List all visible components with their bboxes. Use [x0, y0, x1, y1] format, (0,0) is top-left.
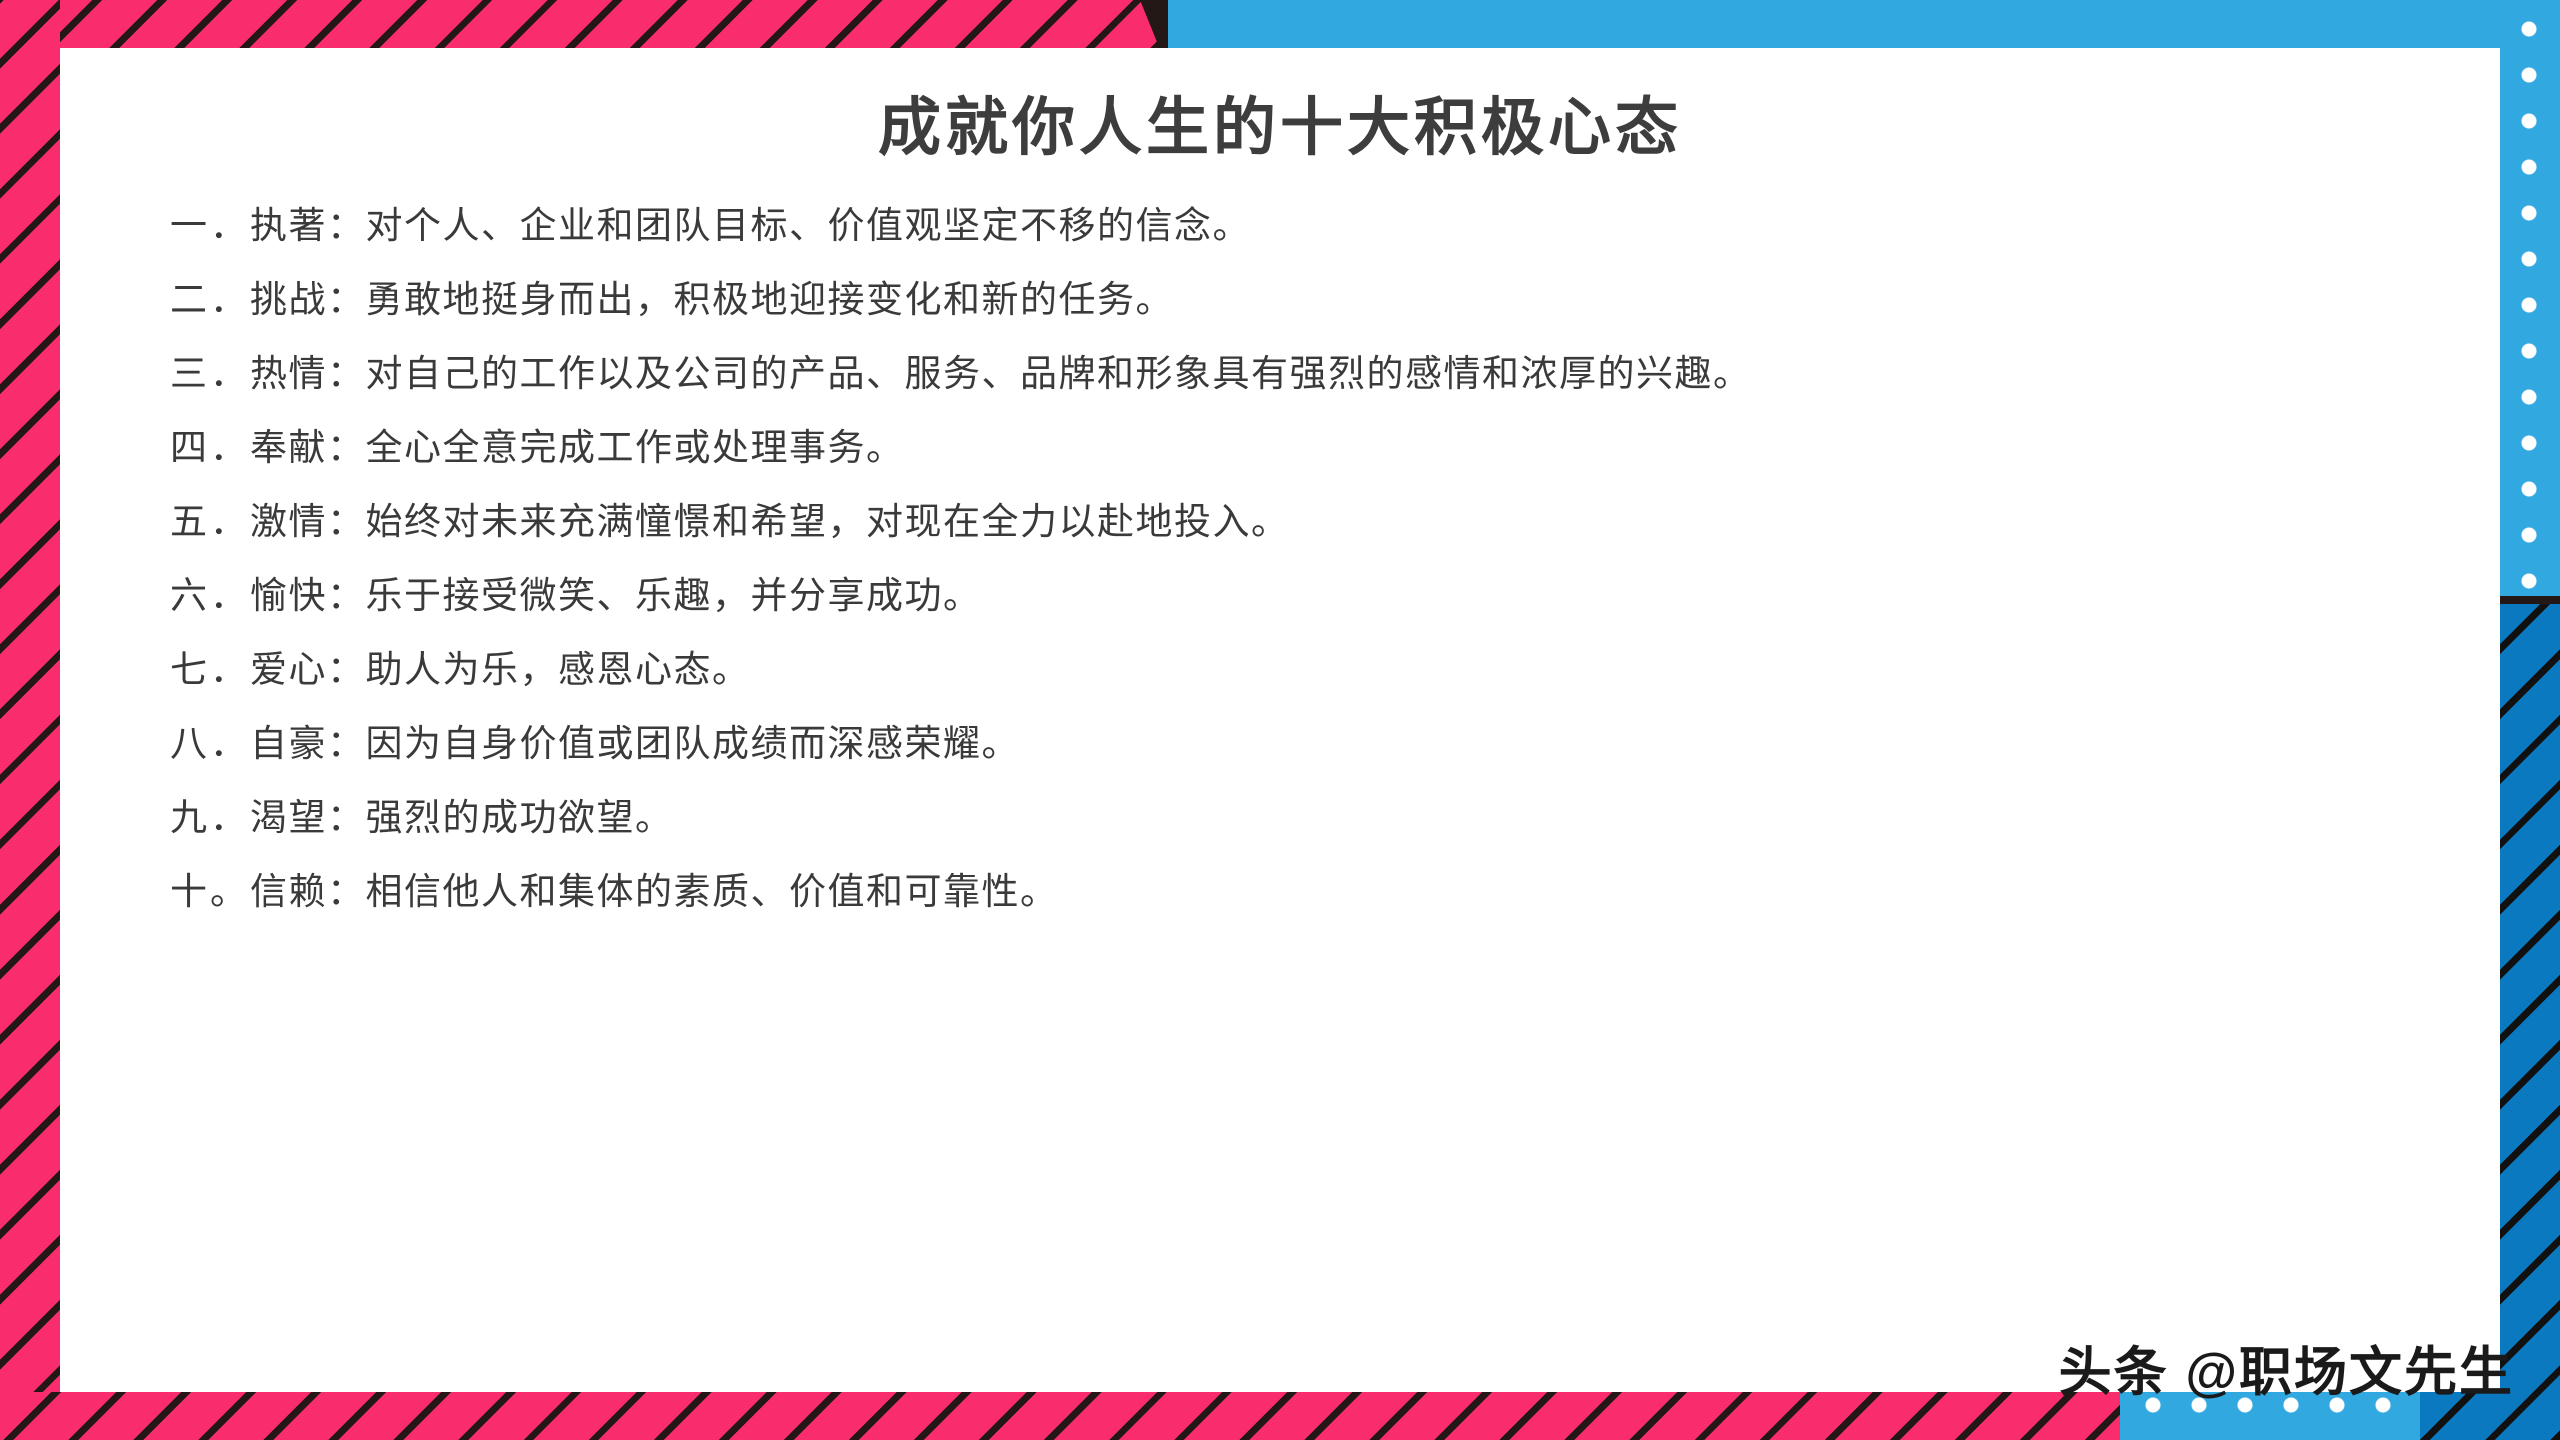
- list-item-text: 自豪：因为自身价值或团队成绩而深感荣耀。: [250, 724, 1020, 765]
- list-item-text: 信赖：相信他人和集体的素质、价值和可靠性。: [250, 872, 1059, 913]
- top-pink-stripe-band: [0, 0, 1160, 48]
- list-item-text: 激情：始终对未来充满憧憬和希望，对现在全力以赴地投入。: [250, 502, 1290, 543]
- list-item: 十。信赖：相信他人和集体的素质、价值和可靠性。: [170, 874, 2460, 911]
- list-item-number: 四．: [170, 428, 250, 469]
- list-item: 五．激情：始终对未来充满憧憬和希望，对现在全力以赴地投入。: [170, 504, 2460, 541]
- list-item-number: 二．: [170, 280, 250, 321]
- positive-mindset-list: 一．执著：对个人、企业和团队目标、价值观坚定不移的信念。 二．挑战：勇敢地挺身而…: [60, 208, 2500, 911]
- watermark-attribution: 头条 @职场文先生: [2059, 1330, 2514, 1406]
- list-item-number: 一．: [170, 206, 250, 247]
- list-item: 四．奉献：全心全意完成工作或处理事务。: [170, 430, 2460, 467]
- right-band-divider: [2500, 596, 2560, 604]
- list-item-number: 九．: [170, 798, 250, 839]
- list-item-text: 奉献：全心全意完成工作或处理事务。: [250, 428, 905, 469]
- list-item-text: 执著：对个人、企业和团队目标、价值观坚定不移的信念。: [250, 206, 1251, 247]
- list-item: 三．热情：对自己的工作以及公司的产品、服务、品牌和形象具有强烈的感情和浓厚的兴趣…: [170, 356, 2460, 393]
- bottom-pink-stripe-band: [0, 1392, 2420, 1440]
- list-item-number: 五．: [170, 502, 250, 543]
- list-item: 八．自豪：因为自身价值或团队成绩而深感荣耀。: [170, 726, 2460, 763]
- list-item-text: 爱心：助人为乐，感恩心态。: [250, 650, 751, 691]
- top-blue-band: [1168, 0, 2560, 48]
- right-blue-dotted-band: [2500, 0, 2560, 600]
- list-item-number: 七．: [170, 650, 250, 691]
- content-card: 成就你人生的十大积极心态 一．执著：对个人、企业和团队目标、价值观坚定不移的信念…: [60, 48, 2500, 1392]
- list-item: 六．愉快：乐于接受微笑、乐趣，并分享成功。: [170, 578, 2460, 615]
- page-title: 成就你人生的十大积极心态: [60, 48, 2500, 164]
- list-item-text: 愉快：乐于接受微笑、乐趣，并分享成功。: [250, 576, 982, 617]
- list-item: 九．渴望：强烈的成功欲望。: [170, 800, 2460, 837]
- left-pink-stripe-band: [0, 0, 60, 1440]
- list-item-number: 六．: [170, 576, 250, 617]
- list-item-text: 热情：对自己的工作以及公司的产品、服务、品牌和形象具有强烈的感情和浓厚的兴趣。: [250, 354, 1752, 395]
- list-item-number: 十。: [170, 872, 250, 913]
- list-item: 二．挑战：勇敢地挺身而出，积极地迎接变化和新的任务。: [170, 282, 2460, 319]
- list-item: 七．爱心：助人为乐，感恩心态。: [170, 652, 2460, 689]
- list-item-number: 八．: [170, 724, 250, 765]
- list-item-text: 渴望：强烈的成功欲望。: [250, 798, 674, 839]
- list-item-text: 挑战：勇敢地挺身而出，积极地迎接变化和新的任务。: [250, 280, 1174, 321]
- list-item-number: 三．: [170, 354, 250, 395]
- list-item: 一．执著：对个人、企业和团队目标、价值观坚定不移的信念。: [170, 208, 2460, 245]
